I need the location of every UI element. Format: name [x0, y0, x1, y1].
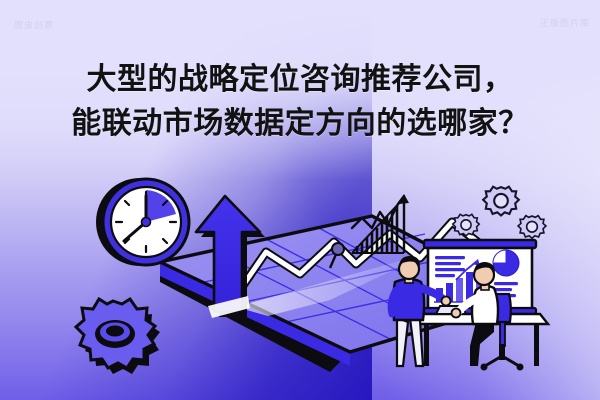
gear-icon	[483, 187, 519, 216]
gear-icon	[518, 216, 546, 239]
page-title: 大型的战略定位咨询推荐公司， 能联动市场数据定方向的选哪家？	[0, 58, 600, 146]
poster-canvas: 图虫创意 正版图片库 大型的战略定位咨询推荐公司， 能联动市场数据定方向的选哪家…	[0, 0, 600, 400]
gear-cluster	[453, 187, 546, 239]
title-line-2: 能联动市场数据定方向的选哪家？	[0, 102, 600, 146]
large-gear	[76, 299, 160, 374]
wall-clock	[96, 178, 189, 266]
title-line-1: 大型的战略定位咨询推荐公司，	[0, 58, 600, 102]
gear-icon	[453, 214, 480, 235]
